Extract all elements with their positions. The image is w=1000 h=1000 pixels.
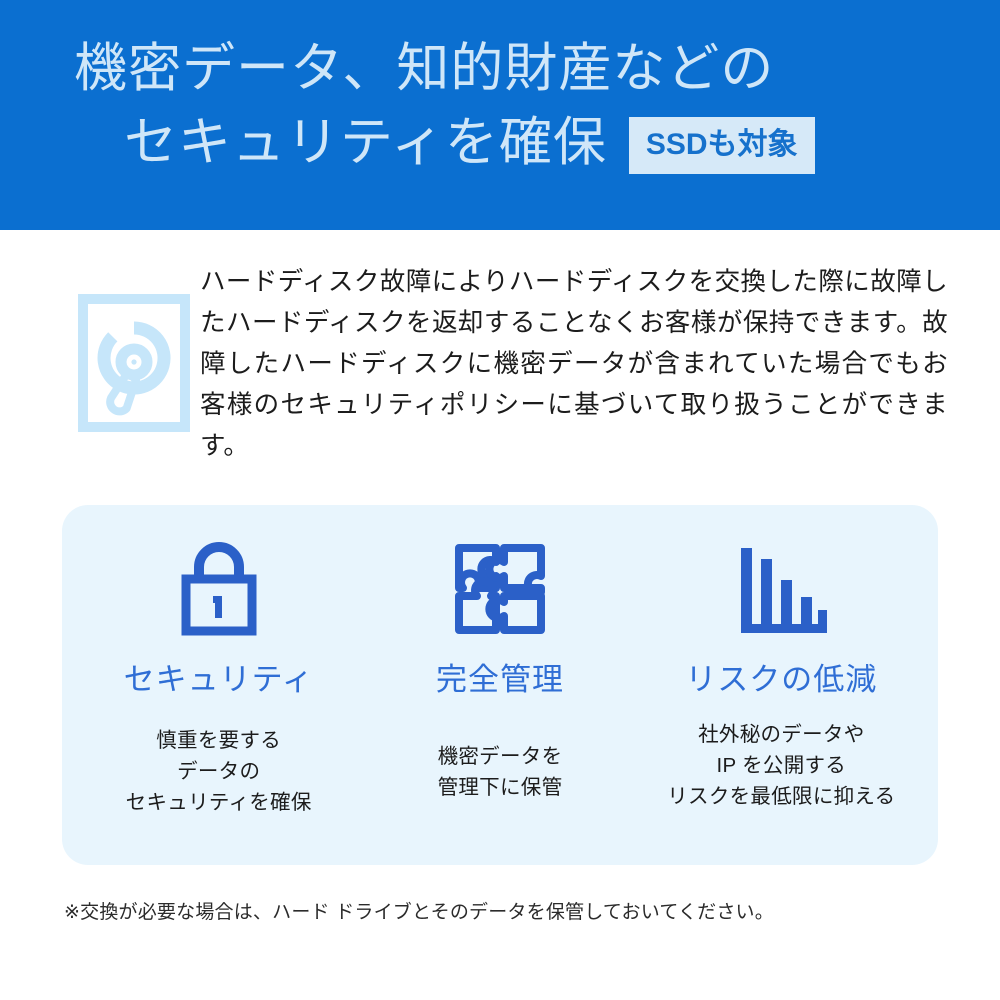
feature-card-risk: リスクの低減 社外秘のデータや IP を公開する リスクを最低限に抑える: [641, 539, 922, 865]
feature-card-security: セキュリティ 慎重を要する データの セキュリティを確保: [78, 539, 359, 865]
puzzle-pieces-icon: [451, 540, 549, 643]
footnote-text: ※交換が必要な場合は、ハード ドライブとそのデータを保管しておいてください。: [64, 900, 774, 926]
padlock-icon-container: [173, 539, 265, 643]
hard-disk-drive-icon: [78, 419, 190, 436]
feature-card-risk-body: 社外秘のデータや IP を公開する リスクを最低限に抑える: [667, 719, 895, 812]
feature-card-security-body-line: データの: [126, 756, 312, 787]
descending-bar-chart-icon: [733, 542, 829, 641]
feature-card-security-title: セキュリティ: [124, 661, 314, 699]
feature-card-control-body: 機密データを 管理下に保管: [438, 741, 563, 803]
feature-card-risk-body-line: IP を公開する: [667, 750, 895, 781]
feature-card-security-body: 慎重を要する データの セキュリティを確保: [126, 725, 312, 818]
feature-card-control-body-line: 管理下に保管: [438, 772, 563, 803]
padlock-icon: [173, 539, 265, 644]
infographic-page: 機密データ、知的財産などの セキュリティを確保 SSDも対象 ハードディスク故障…: [0, 0, 1000, 1000]
header-banner: 機密データ、知的財産などの セキュリティを確保 SSDも対象: [0, 0, 1000, 230]
ssd-support-badge: SSDも対象: [629, 117, 815, 174]
features-panel: セキュリティ 慎重を要する データの セキュリティを確保: [62, 505, 938, 865]
hdd-icon-container: [0, 262, 200, 437]
headline-line-1: 機密データ、知的財産などの: [74, 32, 950, 106]
headline-line-2: セキュリティを確保: [124, 106, 607, 180]
feature-cards: セキュリティ 慎重を要する データの セキュリティを確保: [62, 505, 938, 865]
feature-card-control: 完全管理 機密データを 管理下に保管: [359, 539, 640, 865]
intro-section: ハードディスク故障によりハードディスクを交換した際に故障したハードディスクを返却…: [0, 262, 1000, 467]
feature-card-control-body-line: 機密データを: [438, 741, 563, 772]
feature-card-risk-body-line: 社外秘のデータや: [667, 719, 895, 750]
headline-line-2-row: セキュリティを確保 SSDも対象: [124, 106, 950, 180]
bar-chart-icon-container: [733, 539, 829, 643]
header-content: 機密データ、知的財産などの セキュリティを確保 SSDも対象: [70, 32, 950, 180]
feature-card-risk-body-line: リスクを最低限に抑える: [667, 781, 895, 812]
intro-paragraph: ハードディスク故障によりハードディスクを交換した際に故障したハードディスクを返却…: [200, 262, 1000, 467]
feature-card-security-body-line: セキュリティを確保: [126, 787, 312, 818]
feature-card-control-title: 完全管理: [436, 661, 564, 699]
puzzle-icon-container: [451, 539, 549, 643]
feature-card-risk-title: リスクの低減: [685, 661, 877, 699]
feature-card-security-body-line: 慎重を要する: [126, 725, 312, 756]
